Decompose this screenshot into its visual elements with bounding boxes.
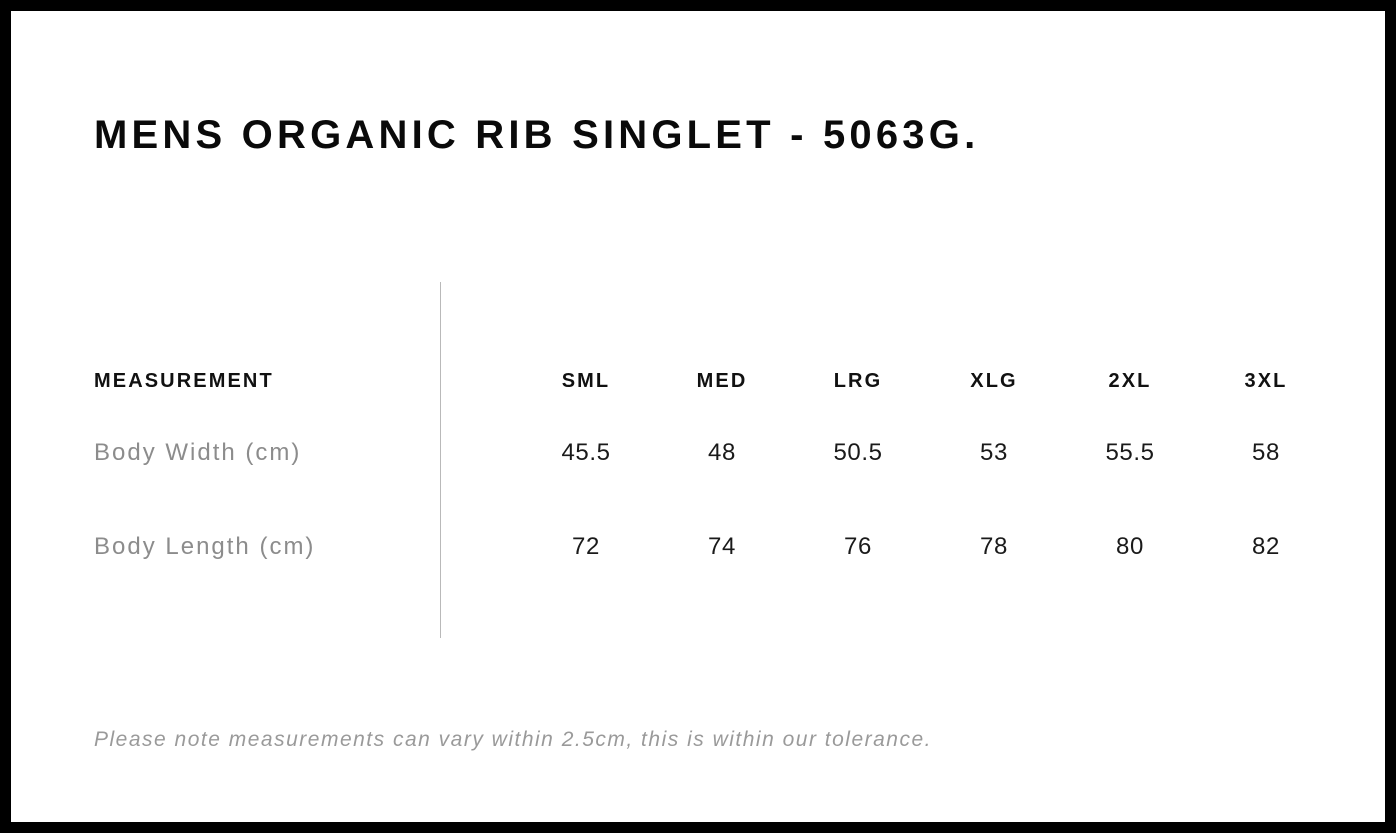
cell-body-width-xlg: 53 [926, 406, 1062, 500]
cell-body-width-sml: 45.5 [518, 406, 654, 500]
cell-body-width-lrg: 50.5 [790, 406, 926, 500]
size-chart-table: MEASUREMENT SML MED LRG XLG 2XL 3XL Body… [94, 356, 1334, 594]
row-label-body-length: Body Length (cm) [94, 500, 518, 594]
cell-body-width-2xl: 55.5 [1062, 406, 1198, 500]
cell-body-length-xlg: 78 [926, 500, 1062, 594]
table-row: Body Width (cm) 45.5 48 50.5 53 55.5 58 [94, 406, 1334, 500]
table-header-row: MEASUREMENT SML MED LRG XLG 2XL 3XL [94, 356, 1334, 406]
table-row: Body Length (cm) 72 74 76 78 80 82 [94, 500, 1334, 594]
column-header-lrg: LRG [790, 356, 926, 406]
size-chart-card: MENS ORGANIC RIB SINGLET - 5063G. MEASUR… [11, 11, 1385, 822]
column-header-sml: SML [518, 356, 654, 406]
row-label-body-width: Body Width (cm) [94, 406, 518, 500]
column-header-3xl: 3XL [1198, 356, 1334, 406]
column-header-2xl: 2XL [1062, 356, 1198, 406]
page-title: MENS ORGANIC RIB SINGLET - 5063G. [94, 115, 979, 155]
cell-body-length-2xl: 80 [1062, 500, 1198, 594]
cell-body-width-3xl: 58 [1198, 406, 1334, 500]
cell-body-length-3xl: 82 [1198, 500, 1334, 594]
column-header-measurement: MEASUREMENT [94, 356, 518, 406]
cell-body-length-med: 74 [654, 500, 790, 594]
cell-body-length-lrg: 76 [790, 500, 926, 594]
tolerance-footnote: Please note measurements can vary within… [94, 727, 932, 752]
cell-body-length-sml: 72 [518, 500, 654, 594]
cell-body-width-med: 48 [654, 406, 790, 500]
column-header-med: MED [654, 356, 790, 406]
column-header-xlg: XLG [926, 356, 1062, 406]
